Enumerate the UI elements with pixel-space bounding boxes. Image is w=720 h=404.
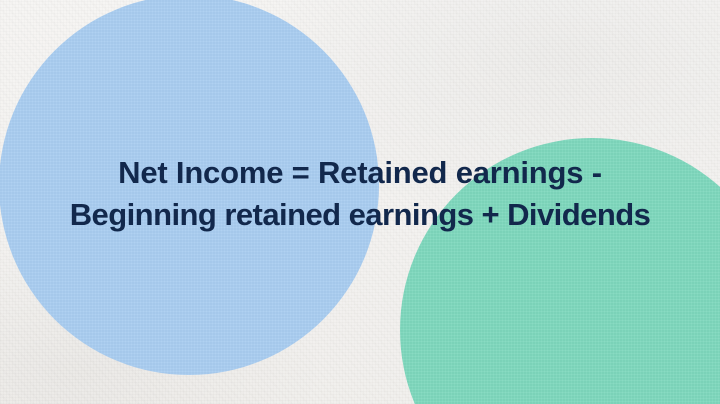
headline-formula-text: Net Income = Retained earnings - Beginni… <box>0 152 720 236</box>
slide-canvas: Net Income = Retained earnings - Beginni… <box>0 0 720 404</box>
headline-line-1: Net Income = Retained earnings - <box>14 152 706 194</box>
headline-line-2: Beginning retained earnings + Dividends <box>14 194 706 236</box>
